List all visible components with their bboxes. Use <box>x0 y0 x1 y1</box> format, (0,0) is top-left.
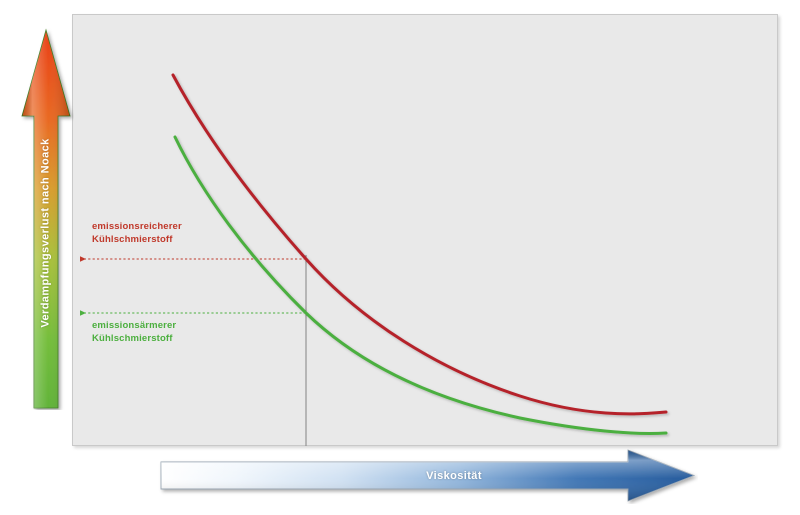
chart-vector-layer <box>0 0 800 515</box>
x-axis-arrow <box>158 448 698 504</box>
y-axis-arrow <box>18 28 74 410</box>
series-line-emissionsaermerer <box>175 137 666 433</box>
annotation-label-emissionsaermerer: emissionsärmerer Kühlschmierstoff <box>92 319 176 345</box>
series-line-emissionsreicherer <box>173 75 666 414</box>
chart-canvas: Verdampfungsverlust nach Noack <box>0 0 800 515</box>
annotation-label-emissionsreicherer: emissionsreicherer Kühlschmierstoff <box>92 220 182 246</box>
